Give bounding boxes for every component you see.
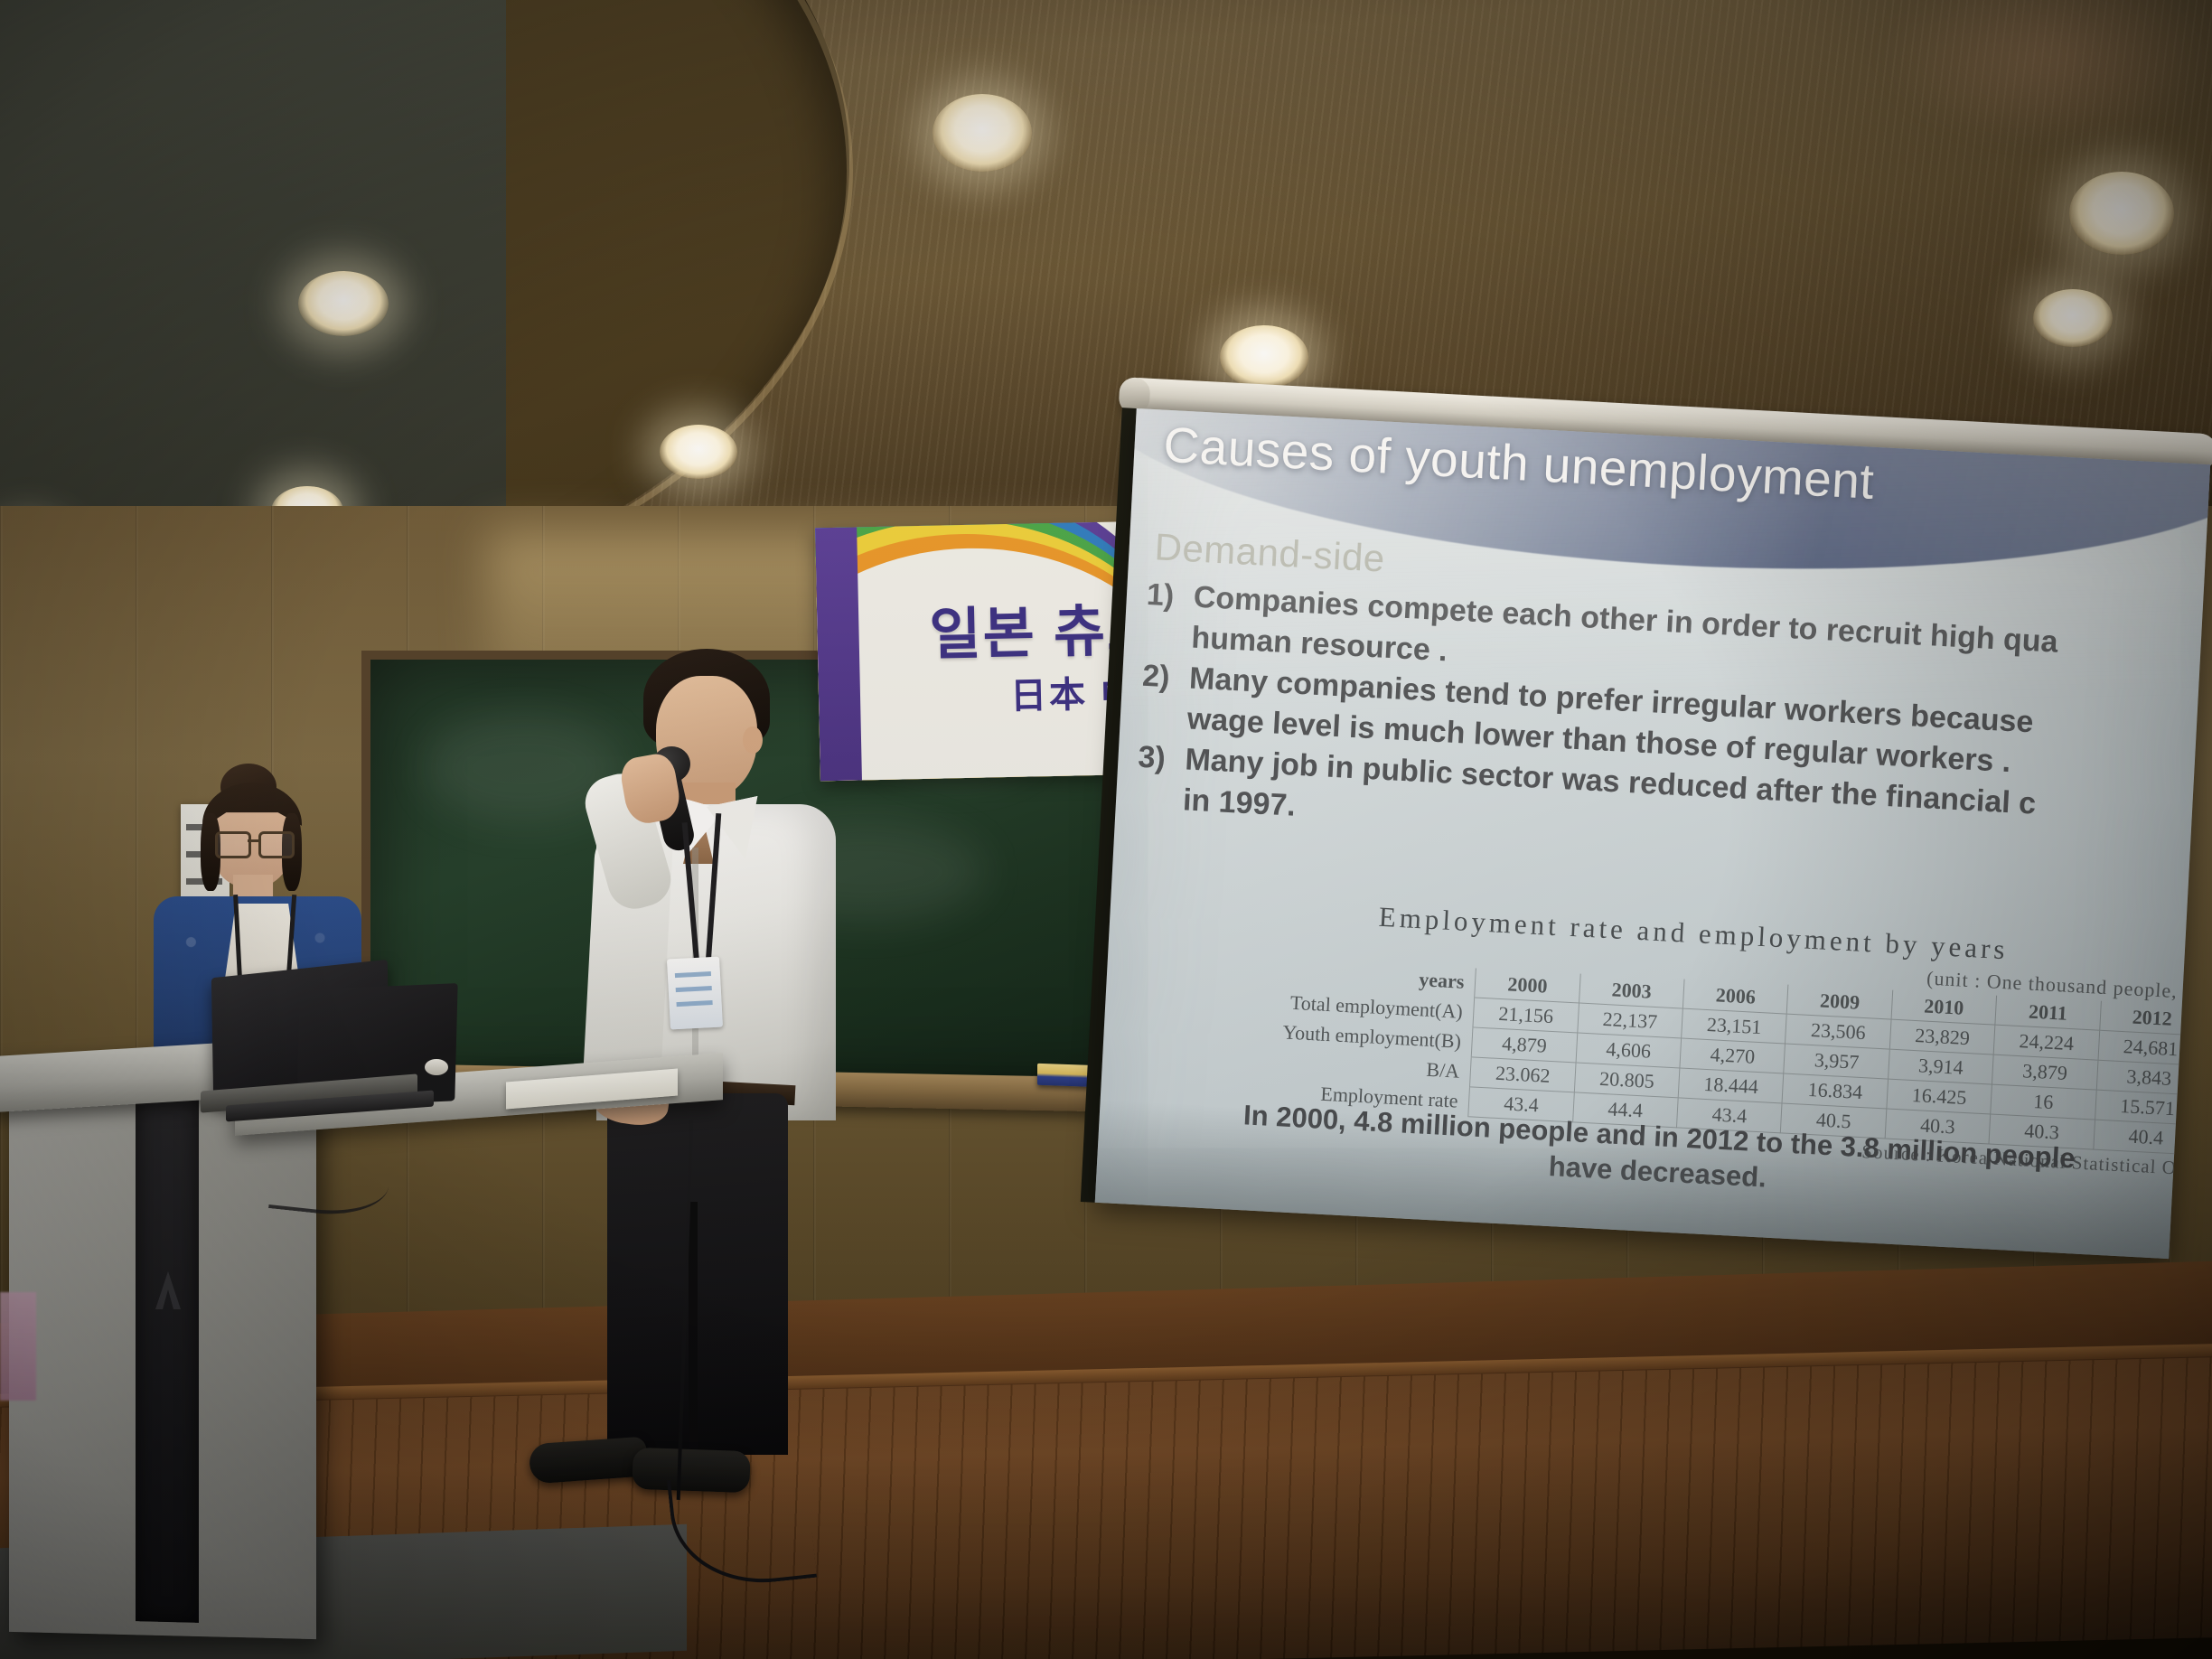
- ceiling-left-soffit: [0, 0, 506, 578]
- badge-text-line: [676, 986, 712, 992]
- projection-screen: Causes of youth unemployment Demand-side…: [1095, 408, 2210, 1259]
- ceiling-downlight-2: [2069, 172, 2174, 255]
- woman-glasses: [215, 831, 291, 853]
- lecture-hall-photo: 일본 츄오 日本 中 Causes of youth unemployment …: [0, 0, 2212, 1659]
- glasses-lens-right: [258, 831, 295, 858]
- man-leg-separation: [689, 1202, 698, 1464]
- bullet-3-number: 3): [1138, 742, 1186, 775]
- ceiling-downlight-5: [2033, 289, 2113, 347]
- glasses-lens-left: [215, 831, 251, 858]
- bag-beside-lectern: [0, 1292, 36, 1401]
- man-ear: [743, 726, 763, 754]
- computer-mouse[interactable]: [425, 1059, 448, 1075]
- lectern-emblem-icon: [152, 1270, 184, 1313]
- badge-text-line: [675, 971, 711, 978]
- ceiling-downlight-4: [1220, 325, 1308, 389]
- bullet-3-continuation: in 1997.: [1182, 784, 1296, 820]
- ceiling-downlight-1: [933, 94, 1032, 172]
- lectern-dark-panel: [136, 1088, 199, 1623]
- glasses-bridge: [248, 839, 258, 842]
- man-shoe-left: [529, 1437, 649, 1485]
- ceiling-downlight-3: [298, 271, 389, 336]
- badge-text-line: [676, 1000, 712, 1007]
- man-trousers: [607, 1093, 788, 1455]
- projection-screen-assembly: Causes of youth unemployment Demand-side…: [1090, 405, 2212, 1354]
- banner-left-edge: [815, 527, 862, 781]
- bullet-indent: [1135, 783, 1184, 816]
- name-badge: [667, 957, 723, 1030]
- ceiling-downlight-6: [660, 425, 737, 479]
